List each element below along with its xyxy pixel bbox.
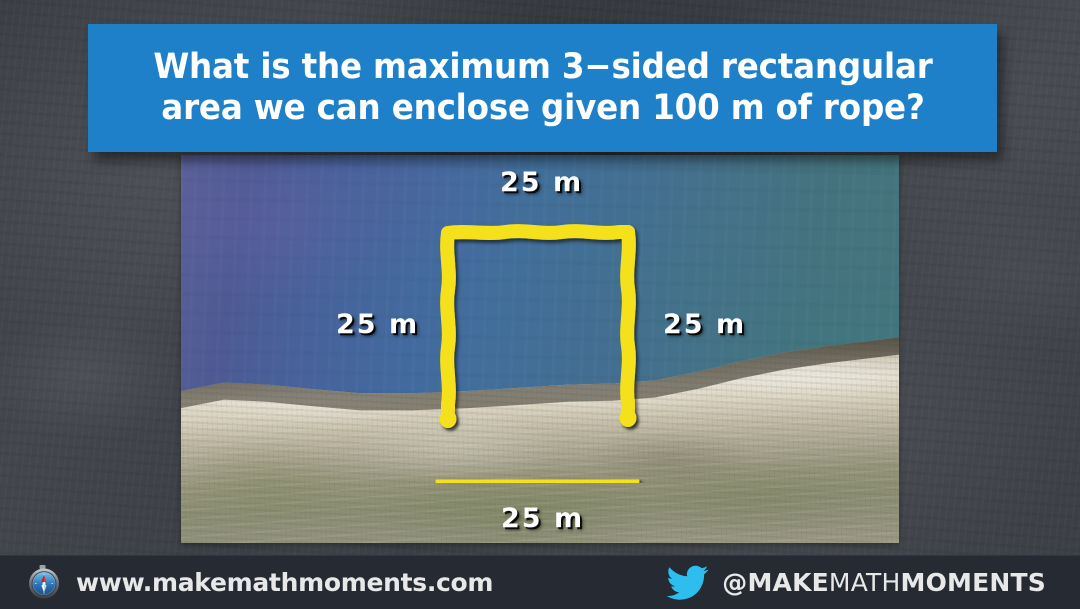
twitter-at-symbol: @ (722, 568, 747, 597)
twitter-handle-part3: MOMENTS (901, 568, 1046, 597)
website-group[interactable]: www.makemathmoments.com (26, 564, 493, 600)
website-url-text: www.makemathmoments.com (76, 568, 493, 597)
question-banner: What is the maximum 3−sided rectangular … (88, 24, 997, 152)
twitter-handle-text: @MAKEMATHMOMENTS (722, 568, 1046, 597)
footer-bar: www.makemathmoments.com @MAKEMATHMOMENTS (0, 555, 1080, 609)
question-text: What is the maximum 3−sided rectangular … (136, 47, 949, 128)
twitter-handle-part2: MATH (829, 568, 901, 597)
twitter-group[interactable]: @MAKEMATHMOMENTS (666, 564, 1046, 600)
measurement-label-left: 25 m (336, 309, 419, 340)
twitter-handle-part1: MAKE (747, 568, 828, 597)
measurement-label-right: 25 m (663, 309, 746, 340)
measurement-label-top: 25 m (500, 167, 583, 198)
safari-compass-icon (26, 564, 62, 600)
twitter-bird-icon (666, 564, 710, 600)
rope-fourth-segment (181, 155, 899, 543)
aerial-beach-photo (181, 155, 899, 543)
measurement-label-bottom: 25 m (501, 503, 584, 534)
